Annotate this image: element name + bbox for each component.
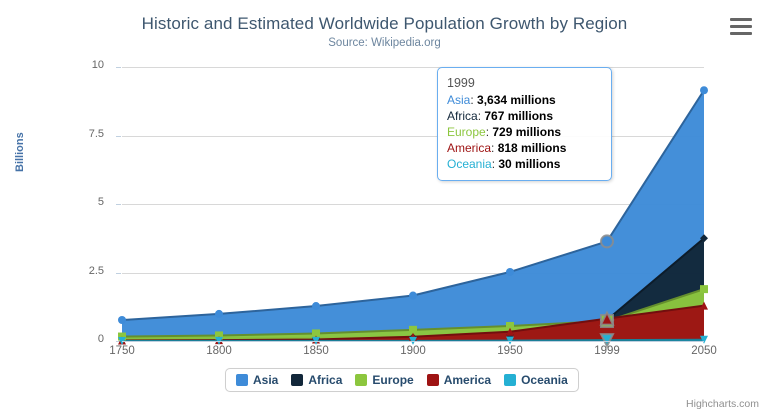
series-layer	[122, 67, 704, 341]
legend-label: Asia	[253, 373, 278, 387]
y-axis-tick	[116, 273, 121, 274]
area-fill	[122, 90, 704, 341]
x-axis-line	[122, 341, 704, 342]
legend-swatch-icon	[504, 374, 516, 386]
y-axis-label: 7.5	[64, 128, 104, 140]
menu-bar-1	[730, 18, 752, 21]
legend-label: Oceania	[521, 373, 568, 387]
y-axis-tick	[116, 204, 121, 205]
tooltip-row: Africa: 767 millions	[447, 108, 602, 124]
tooltip-separator: :	[491, 141, 498, 155]
menu-bar-2	[730, 25, 752, 28]
y-axis-title: Billions	[14, 132, 26, 172]
x-axis-label: 1800	[189, 345, 249, 357]
data-point[interactable]	[506, 268, 514, 276]
data-point[interactable]	[700, 285, 708, 293]
tooltip-series-name: America	[447, 141, 491, 155]
data-point[interactable]	[601, 235, 613, 247]
tooltip-series-name: Asia	[447, 93, 470, 107]
legend-item-america[interactable]: America	[427, 373, 491, 387]
legend-label: Africa	[308, 373, 342, 387]
legend-item-europe[interactable]: Europe	[355, 373, 413, 387]
x-axis-label: 1750	[92, 345, 152, 357]
legend-swatch-icon	[355, 374, 367, 386]
data-point[interactable]	[409, 326, 417, 334]
legend-label: Europe	[372, 373, 413, 387]
hamburger-menu-icon[interactable]	[730, 18, 752, 36]
tooltip-series-name: Oceania	[447, 157, 492, 171]
legend-swatch-icon	[427, 374, 439, 386]
tooltip-series-name: Africa	[447, 109, 478, 123]
series-asia	[122, 90, 704, 341]
y-axis-label: 10	[64, 59, 104, 71]
tooltip-rows: Asia: 3,634 millionsAfrica: 767 millions…	[447, 92, 602, 172]
tooltip-series-value: 767 millions	[484, 109, 553, 123]
menu-bar-3	[730, 32, 752, 35]
x-axis-label: 1850	[286, 345, 346, 357]
highcharts-container: Historic and Estimated Worldwide Populat…	[0, 0, 769, 416]
legend-item-oceania[interactable]: Oceania	[504, 373, 568, 387]
legend: AsiaAfricaEuropeAmericaOceania	[225, 368, 579, 392]
legend-label: America	[444, 373, 491, 387]
data-point[interactable]	[700, 86, 708, 94]
legend-item-asia[interactable]: Asia	[236, 373, 278, 387]
y-axis-label: 5	[64, 196, 104, 208]
plot-area	[122, 67, 704, 341]
y-axis-tick	[116, 136, 121, 137]
y-axis-label: 2.5	[64, 265, 104, 277]
chart-title: Historic and Estimated Worldwide Populat…	[0, 14, 769, 34]
tooltip-separator: :	[470, 93, 477, 107]
tooltip-row: Asia: 3,634 millions	[447, 92, 602, 108]
data-point[interactable]	[312, 302, 320, 310]
tooltip-row: America: 818 millions	[447, 140, 602, 156]
data-point[interactable]	[409, 292, 417, 300]
data-point[interactable]	[215, 310, 223, 318]
data-point[interactable]	[118, 316, 126, 324]
chart-subtitle: Source: Wikipedia.org	[0, 37, 769, 49]
x-axis-label: 1900	[383, 345, 443, 357]
legend-item-africa[interactable]: Africa	[291, 373, 342, 387]
tooltip-series-value: 818 millions	[498, 141, 567, 155]
tooltip-row: Europe: 729 millions	[447, 124, 602, 140]
tooltip-series-value: 30 millions	[498, 157, 560, 171]
y-axis-label: 0	[64, 333, 104, 345]
credits-label[interactable]: Highcharts.com	[686, 398, 759, 410]
x-axis-label: 1999	[577, 345, 637, 357]
legend-swatch-icon	[236, 374, 248, 386]
tooltip-series-value: 729 millions	[492, 125, 561, 139]
y-axis-tick	[116, 67, 121, 68]
x-axis-label: 2050	[674, 345, 734, 357]
tooltip: 1999 Asia: 3,634 millionsAfrica: 767 mil…	[437, 67, 612, 181]
tooltip-row: Oceania: 30 millions	[447, 156, 602, 172]
x-axis-label: 1950	[480, 345, 540, 357]
tooltip-series-name: Europe	[447, 125, 486, 139]
legend-swatch-icon	[291, 374, 303, 386]
tooltip-header: 1999	[447, 75, 602, 91]
tooltip-series-value: 3,634 millions	[477, 93, 556, 107]
